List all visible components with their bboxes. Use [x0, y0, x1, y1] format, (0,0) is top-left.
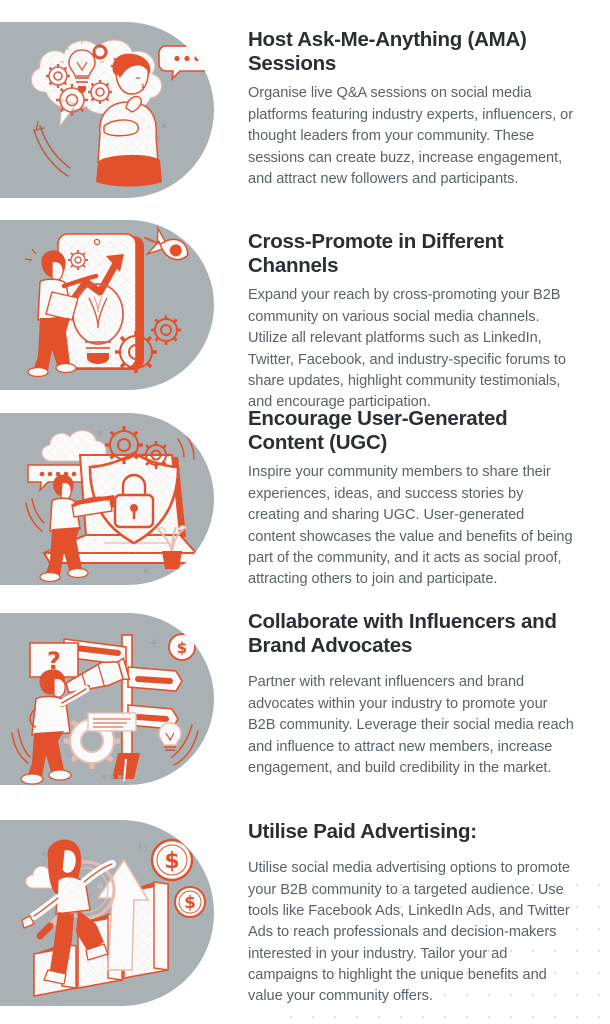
svg-text:$: $: [177, 639, 187, 657]
infographic-page: Host Ask-Me-Anything (AMA) Sessions Orga…: [0, 0, 610, 1024]
section-ama-sessions: Host Ask-Me-Anything (AMA) Sessions Orga…: [0, 0, 610, 215]
section-heading: Encourage User-Generated Content (UGC): [248, 407, 574, 455]
svg-text:$: $: [164, 849, 179, 874]
section-heading: Host Ask-Me-Anything (AMA) Sessions: [248, 28, 574, 76]
section-body: Organise live Q&A sessions on social med…: [248, 83, 574, 190]
section-body: Utilise social media advertising options…: [248, 858, 574, 1008]
section-collaborate-influencers: ?: [0, 605, 610, 810]
section-body: Partner with relevant influencers and br…: [248, 672, 574, 779]
section-heading: Cross-Promote in Different Channels: [248, 230, 574, 278]
section-copy: Collaborate with Influencers and Brand A…: [248, 610, 574, 779]
signpost-telescope-illustration: ?: [0, 613, 214, 785]
climbing-bar-chart-illustration: $ $: [0, 820, 214, 1006]
laptop-security-shield-illustration: [0, 413, 214, 585]
section-copy: Host Ask-Me-Anything (AMA) Sessions Orga…: [248, 28, 574, 190]
illustration-panel: ?: [0, 613, 214, 785]
section-body: Expand your reach by cross-promoting you…: [248, 285, 574, 413]
section-heading: Utilise Paid Advertising:: [248, 820, 574, 844]
illustration-panel: [0, 413, 214, 585]
thinking-person-idea-cloud-illustration: [0, 22, 214, 198]
growth-chart-rocket-illustration: [0, 220, 214, 390]
section-user-generated-content: Encourage User-Generated Content (UGC) I…: [0, 405, 610, 605]
section-body: Inspire your community members to share …: [248, 462, 574, 590]
section-copy: Encourage User-Generated Content (UGC) I…: [248, 407, 574, 591]
section-copy: Utilise Paid Advertising: Utilise social…: [248, 820, 574, 1008]
svg-text:$: $: [184, 893, 196, 913]
section-heading: Collaborate with Influencers and Brand A…: [248, 610, 574, 658]
section-copy: Cross-Promote in Different Channels Expa…: [248, 230, 574, 414]
illustration-panel: $ $: [0, 820, 214, 1006]
section-paid-advertising: $ $ Utilise Paid Advertising: Util: [0, 810, 610, 1024]
illustration-panel: [0, 22, 214, 198]
section-cross-promote: Cross-Promote in Different Channels Expa…: [0, 215, 610, 405]
illustration-panel: [0, 220, 214, 390]
